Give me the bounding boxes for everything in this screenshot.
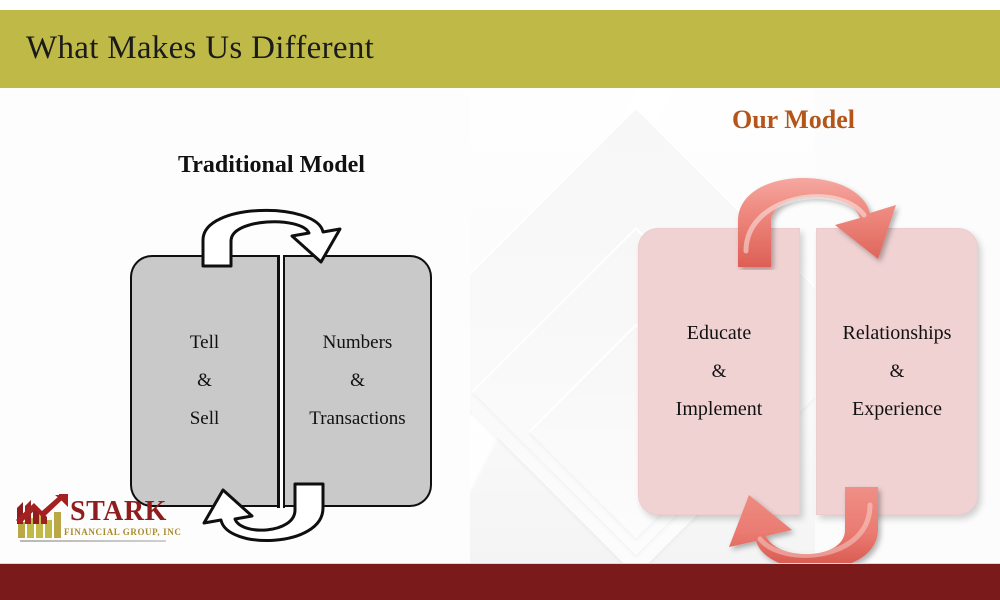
our-model-right-line-1: Relationships <box>843 323 952 344</box>
our-model-right-line-3: Experience <box>852 399 942 420</box>
logo-chart-icon <box>14 494 70 540</box>
our-model-left-line-1: Educate <box>687 323 751 344</box>
title-banner: What Makes Us Different <box>0 10 1000 88</box>
our-model-heading: Our Model <box>732 105 855 135</box>
our-model-right-line-2: & <box>890 362 905 382</box>
logo-tagline: FINANCIAL GROUP, INC <box>64 527 181 537</box>
traditional-left-box: Tell & Sell <box>130 255 277 507</box>
traditional-model-heading: Traditional Model <box>178 152 365 179</box>
slide-canvas: What Makes Us Different Traditional Mode… <box>0 0 1000 600</box>
traditional-right-line-2: & <box>350 371 365 391</box>
our-model-left-box: Educate & Implement <box>638 228 800 515</box>
traditional-right-line-3: Transactions <box>309 409 405 429</box>
background-chevron-watermark <box>401 106 871 576</box>
traditional-left-line-1: Tell <box>190 333 219 353</box>
slide-title: What Makes Us Different <box>26 30 374 67</box>
traditional-right-line-1: Numbers <box>323 333 393 353</box>
footer-bar <box>0 563 1000 600</box>
logo-underline <box>20 540 166 542</box>
logo-wordmark: STARK <box>70 498 167 526</box>
traditional-left-line-3: Sell <box>190 409 220 429</box>
our-model-right-box: Relationships & Experience <box>816 228 978 515</box>
traditional-right-box: Numbers & Transactions <box>285 255 432 507</box>
stark-financial-logo: STARK FINANCIAL GROUP, INC <box>14 494 166 550</box>
our-model-left-line-2: & <box>712 362 727 382</box>
traditional-left-line-2: & <box>197 371 212 391</box>
our-model-left-line-3: Implement <box>676 399 763 420</box>
